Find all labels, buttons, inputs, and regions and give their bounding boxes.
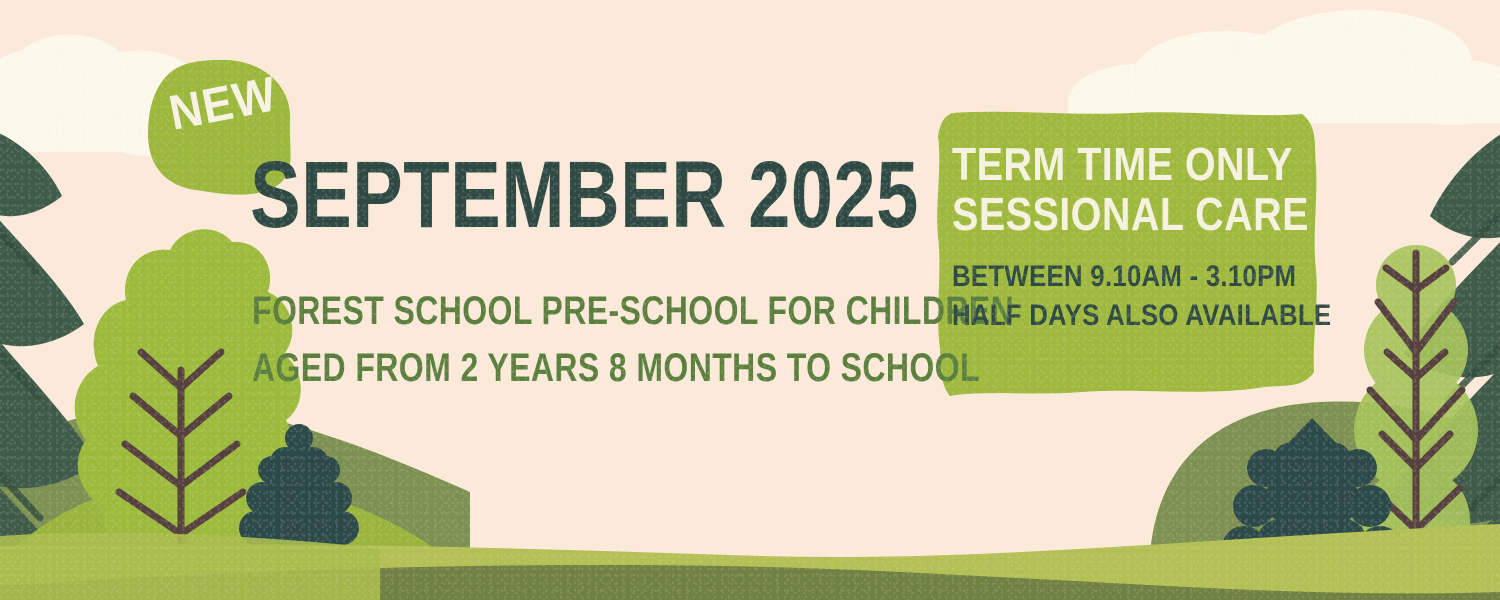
forest-school-banner: NEW SEPTEMBER 2025 FOREST SCHOOL PRE-SCH…: [0, 0, 1500, 600]
subheading: FOREST SCHOOL PRE-SCHOOL FOR CHILDREN AG…: [252, 283, 1014, 397]
subheading-line-1: FOREST SCHOOL PRE-SCHOOL FOR CHILDREN: [252, 283, 1014, 340]
info-card: TERM TIME ONLY SESSIONAL CARE BETWEEN 9.…: [952, 140, 1308, 335]
info-card-title-line-2: SESSIONAL CARE: [952, 190, 1258, 240]
info-card-detail-line-2: HALF DAYS ALSO AVAILABLE: [952, 296, 1258, 335]
info-card-details: BETWEEN 9.10AM - 3.10PM HALF DAYS ALSO A…: [952, 257, 1258, 335]
subheading-line-2: AGED FROM 2 YEARS 8 MONTHS TO SCHOOL: [252, 340, 1014, 397]
info-card-detail-line-1: BETWEEN 9.10AM - 3.10PM: [952, 257, 1258, 296]
info-card-title-line-1: TERM TIME ONLY: [952, 140, 1258, 190]
info-card-title: TERM TIME ONLY SESSIONAL CARE: [952, 140, 1258, 239]
page-title: SEPTEMBER 2025: [250, 152, 919, 239]
